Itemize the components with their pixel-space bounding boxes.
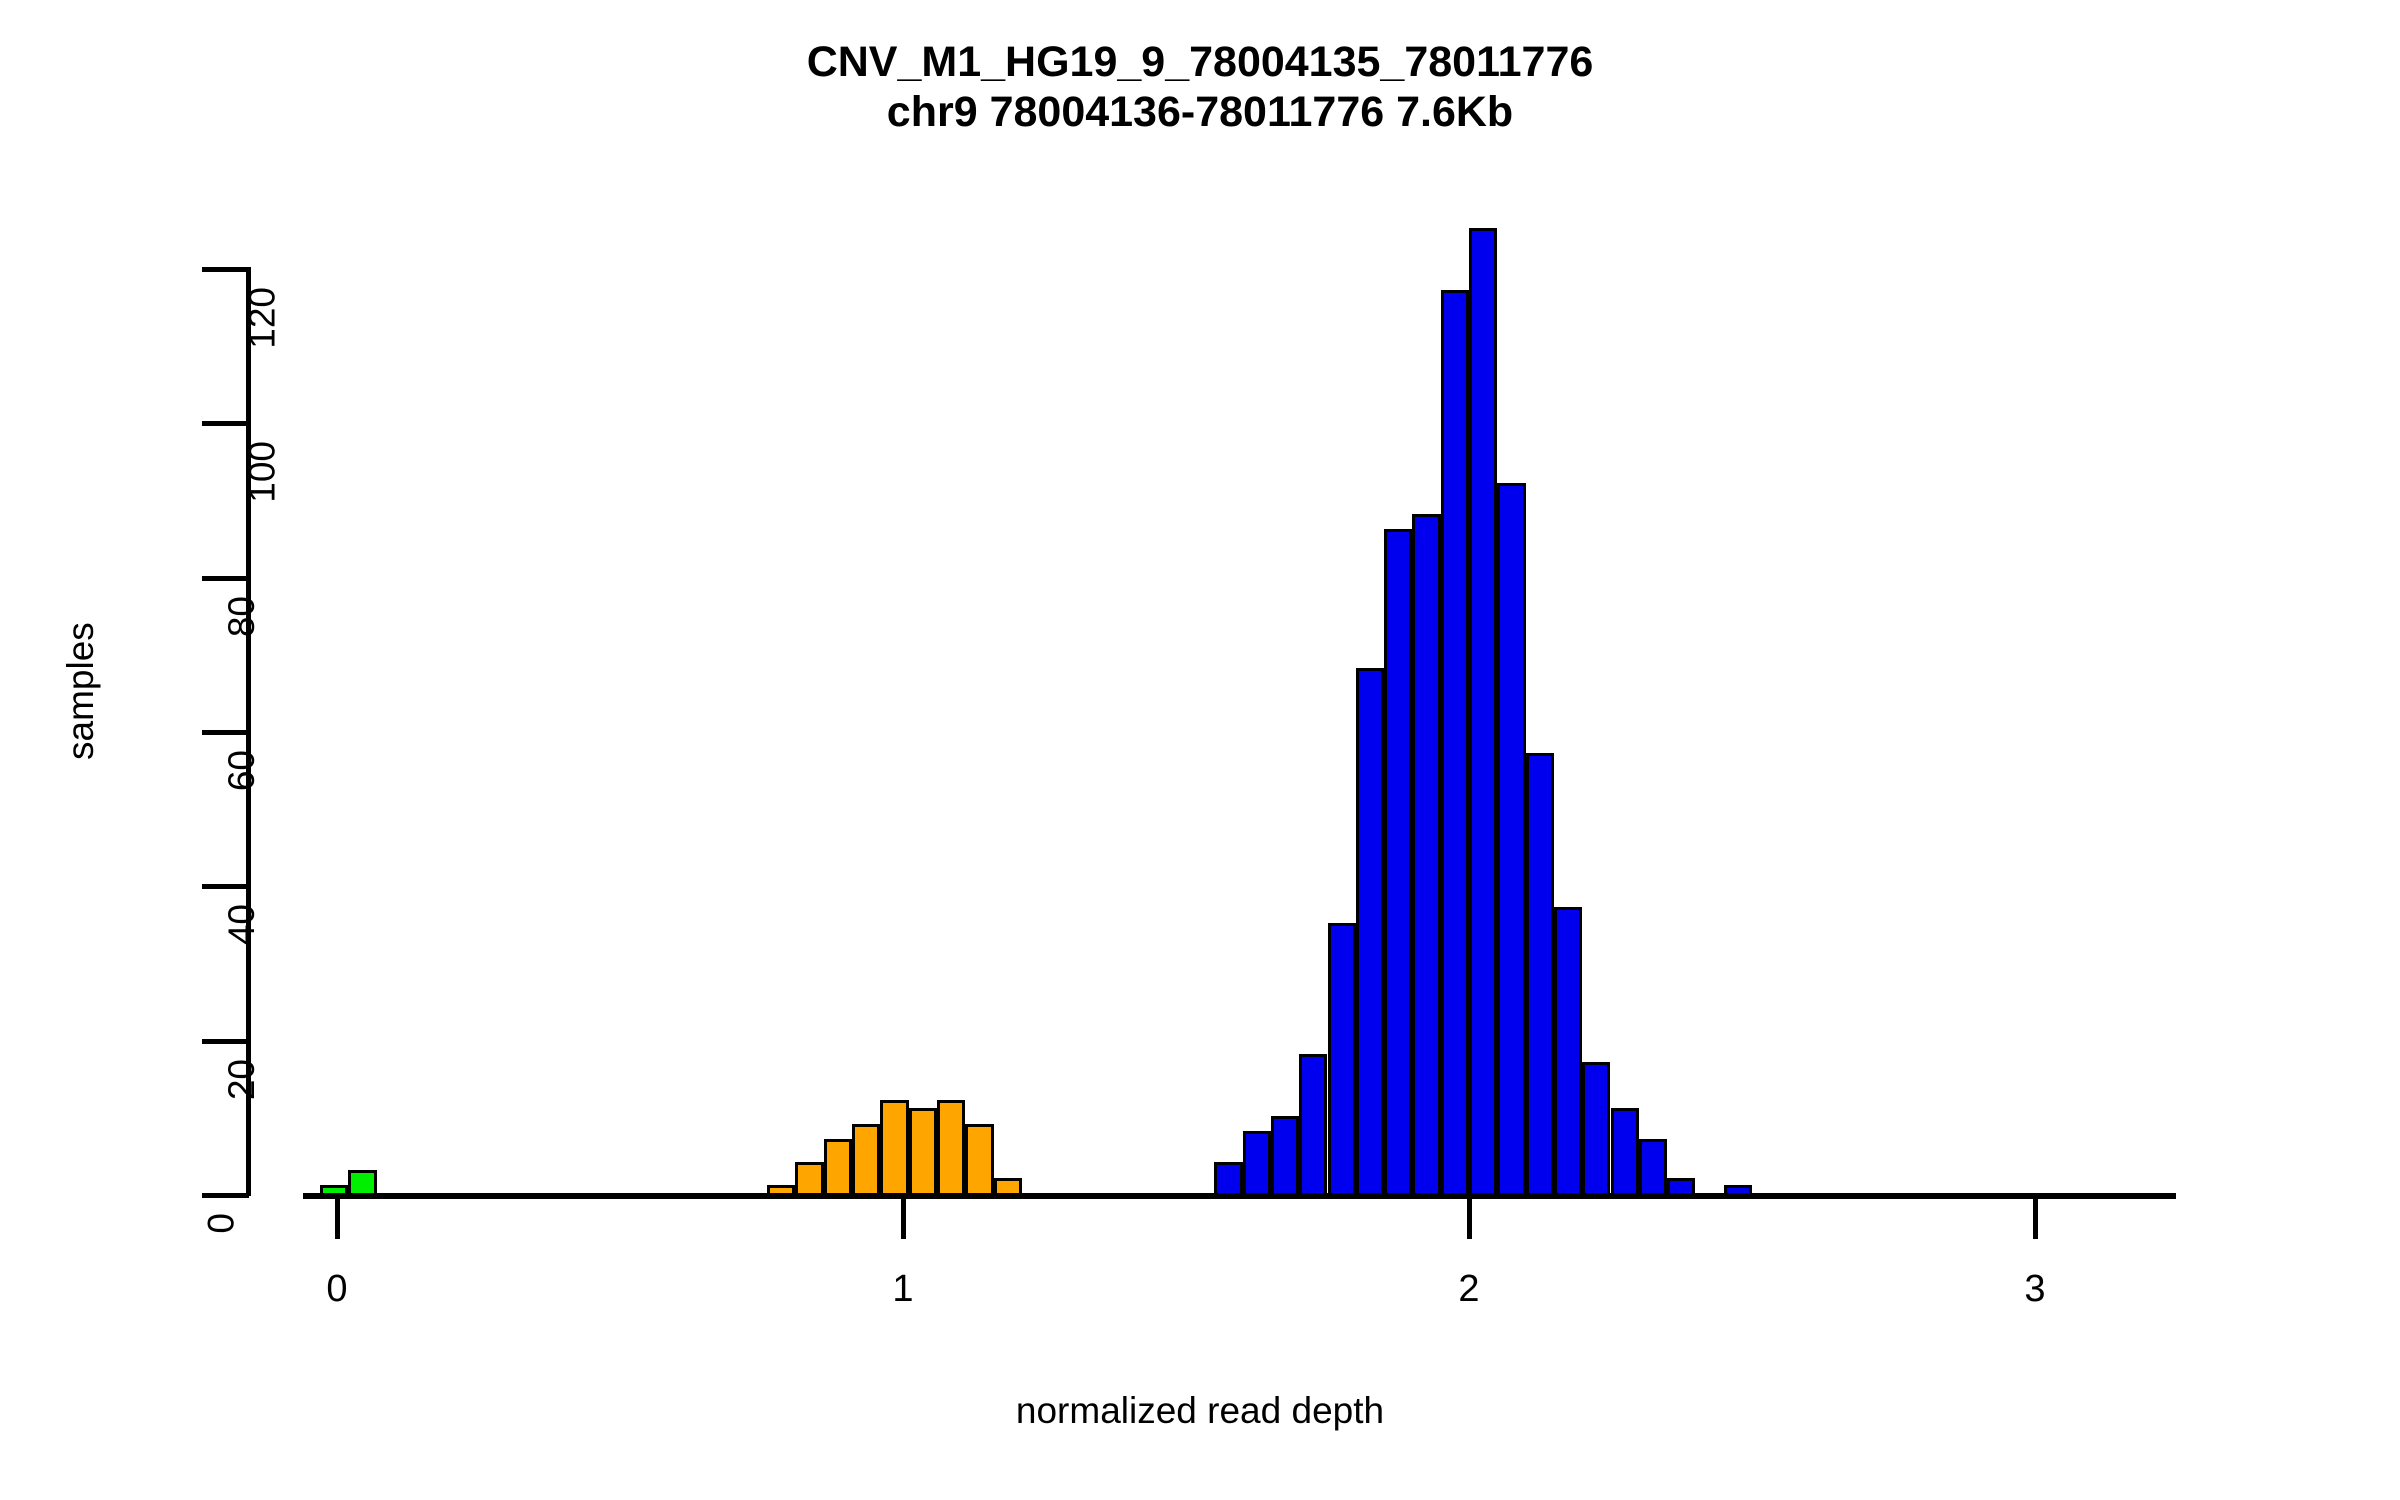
- histogram-bar: [1214, 1162, 1242, 1196]
- x-tick: [2033, 1199, 2038, 1239]
- histogram-bar: [994, 1178, 1022, 1196]
- x-tick: [901, 1199, 906, 1239]
- histogram-bar: [1299, 1054, 1327, 1196]
- histogram-bar: [1611, 1108, 1639, 1196]
- y-tick: [202, 1193, 249, 1198]
- histogram-bar: [1243, 1131, 1271, 1196]
- y-tick: [202, 267, 249, 272]
- x-tick-label: 0: [297, 1268, 377, 1311]
- x-tick: [1467, 1199, 1472, 1239]
- histogram-bar: [1554, 907, 1582, 1196]
- histogram-bar: [1271, 1116, 1299, 1196]
- y-tick-label: 60: [221, 750, 263, 791]
- histogram-bar: [880, 1100, 908, 1196]
- histogram-bar: [1667, 1178, 1695, 1196]
- histogram-bar: [1497, 483, 1525, 1196]
- histogram-bar: [1639, 1139, 1667, 1196]
- histogram-bar: [965, 1124, 993, 1196]
- histogram-bar: [1724, 1185, 1752, 1196]
- x-axis-label: normalized read depth: [0, 1390, 2400, 1432]
- histogram-bar: [1412, 514, 1440, 1196]
- histogram-bar: [1469, 228, 1497, 1196]
- chart-subtitle: chr9 78004136-78011776 7.6Kb: [0, 88, 2400, 137]
- histogram-bar: [1356, 668, 1384, 1196]
- y-tick-label: 40: [221, 904, 263, 945]
- histogram-bar: [1582, 1062, 1610, 1196]
- y-tick: [202, 884, 249, 889]
- y-tick-label: 20: [221, 1059, 263, 1100]
- y-tick-label: 0: [201, 1213, 243, 1234]
- histogram-bar: [909, 1108, 937, 1196]
- y-tick: [202, 730, 249, 735]
- histogram-bar: [824, 1139, 852, 1196]
- histogram-bar: [852, 1124, 880, 1196]
- y-tick: [202, 576, 249, 581]
- y-tick-label: 100: [242, 441, 284, 503]
- x-tick-label: 3: [1995, 1268, 2075, 1311]
- histogram-bar: [1328, 923, 1356, 1196]
- histogram-bar: [320, 1185, 348, 1196]
- histogram-bar: [1526, 753, 1554, 1196]
- histogram-bar: [795, 1162, 823, 1196]
- y-tick-label: 80: [221, 596, 263, 637]
- y-tick: [202, 1039, 249, 1044]
- chart-title: CNV_M1_HG19_9_78004135_78011776: [0, 38, 2400, 87]
- histogram-bar: [1441, 290, 1469, 1196]
- histogram-bar: [1384, 529, 1412, 1196]
- histogram-plot: CNV_M1_HG19_9_78004135_78011776 chr9 780…: [0, 0, 2400, 1500]
- histogram-bar: [767, 1185, 795, 1196]
- y-axis-label: samples: [60, 622, 102, 760]
- x-tick: [335, 1199, 340, 1239]
- y-tick-label: 120: [242, 287, 284, 349]
- histogram-bar: [348, 1170, 376, 1196]
- histogram-bar: [937, 1100, 965, 1196]
- x-tick-label: 1: [863, 1268, 943, 1311]
- y-tick: [202, 421, 249, 426]
- x-tick-label: 2: [1429, 1268, 1509, 1311]
